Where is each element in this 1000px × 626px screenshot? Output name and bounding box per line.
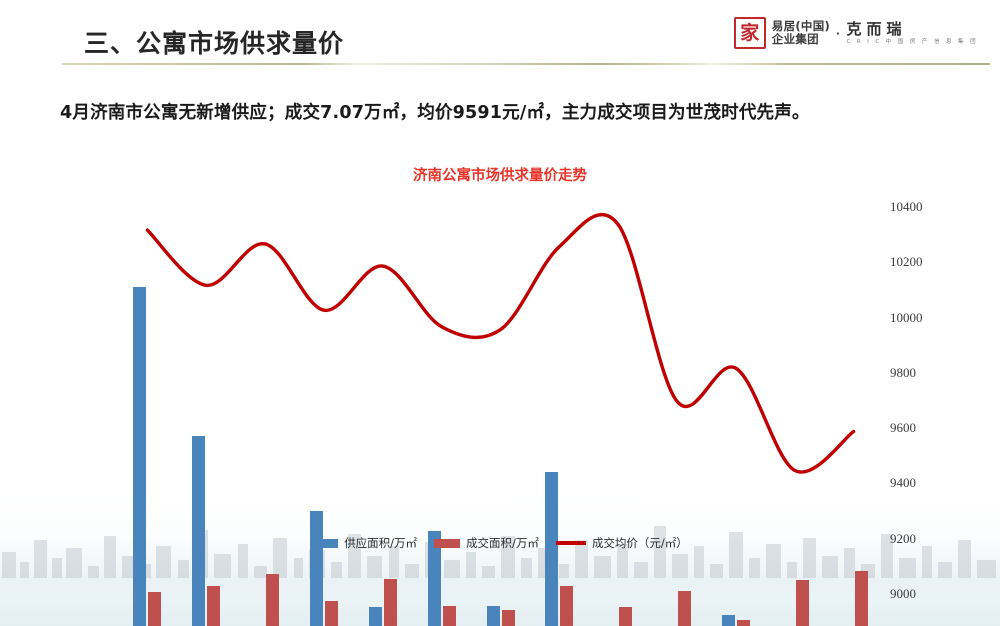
price-line-path bbox=[147, 215, 853, 472]
logo-separator-dot: · bbox=[836, 26, 840, 41]
bar-supply-area bbox=[310, 511, 323, 626]
bar-deal-area bbox=[207, 586, 220, 626]
logo-line-2: 企业集团 bbox=[772, 33, 830, 47]
y-axis-right-tick: 9800 bbox=[890, 365, 950, 381]
y-axis-right-tick: 9400 bbox=[890, 475, 950, 491]
bar-deal-area bbox=[678, 591, 691, 626]
logo-brand: 克而瑞 C R I C 中 国 房 产 信 息 集 团 bbox=[846, 21, 978, 46]
legend-item[interactable]: 成交均价（元/㎡） bbox=[556, 535, 688, 551]
y-axis-right-tick: 9000 bbox=[890, 586, 950, 602]
bar-supply-area bbox=[192, 436, 205, 626]
price-line-series bbox=[118, 208, 883, 626]
bar-supply-area bbox=[133, 287, 146, 626]
page-title: 三、公寓市场供求量价 bbox=[84, 24, 344, 60]
bar-deal-area bbox=[266, 574, 279, 626]
bar-deal-area bbox=[443, 606, 456, 626]
chart-plot-area: 0510152025303588009000920094009600980010… bbox=[118, 208, 883, 626]
legend-bar-swatch bbox=[434, 539, 460, 548]
company-logo: 家 易居(中国) 企业集团 · 克而瑞 C R I C 中 国 房 产 信 息 … bbox=[734, 14, 978, 52]
y-axis-right-tick: 10200 bbox=[890, 254, 950, 270]
bar-supply-area bbox=[722, 615, 735, 626]
legend-bar-swatch bbox=[312, 539, 338, 548]
bar-deal-area bbox=[796, 580, 809, 626]
legend-item[interactable]: 成交面积/万㎡ bbox=[434, 535, 539, 551]
legend-label: 成交面积/万㎡ bbox=[466, 535, 539, 551]
legend-item[interactable]: 供应面积/万㎡ bbox=[312, 535, 417, 551]
legend-label: 供应面积/万㎡ bbox=[344, 535, 417, 551]
logo-line-1: 易居(中国) bbox=[772, 20, 830, 34]
seal-icon: 家 bbox=[734, 17, 766, 49]
bar-deal-area bbox=[737, 620, 750, 626]
legend-label: 成交均价（元/㎡） bbox=[592, 535, 688, 551]
bar-deal-area bbox=[855, 571, 868, 626]
bar-deal-area bbox=[560, 586, 573, 626]
y-axis-right-tick: 10400 bbox=[890, 199, 950, 215]
bar-deal-area bbox=[384, 579, 397, 626]
chart-legend: 供应面积/万㎡成交面积/万㎡成交均价（元/㎡） bbox=[0, 535, 1000, 551]
logo-brand-subtitle: C R I C 中 国 房 产 信 息 集 团 bbox=[846, 38, 978, 46]
bar-supply-area bbox=[369, 607, 382, 626]
bar-deal-area bbox=[148, 592, 161, 626]
bar-supply-area bbox=[487, 606, 500, 626]
title-divider-rule bbox=[62, 63, 990, 65]
bar-deal-area bbox=[619, 607, 632, 626]
chart-title: 济南公寓市场供求量价走势 bbox=[0, 164, 1000, 185]
bar-deal-area bbox=[325, 601, 338, 626]
bar-deal-area bbox=[502, 610, 515, 626]
summary-text: 4月济南市公寓无新增供应；成交7.07万㎡，均价9591元/㎡，主力成交项目为世… bbox=[60, 99, 810, 124]
logo-company-name: 易居(中国) 企业集团 bbox=[772, 20, 830, 47]
logo-brand-name: 克而瑞 bbox=[846, 21, 978, 37]
legend-line-swatch bbox=[556, 541, 586, 545]
y-axis-right-tick: 9600 bbox=[890, 420, 950, 436]
y-axis-right-tick: 10000 bbox=[890, 310, 950, 326]
chart-container: 济南公寓市场供求量价走势 051015202530358800900092009… bbox=[0, 150, 1000, 580]
